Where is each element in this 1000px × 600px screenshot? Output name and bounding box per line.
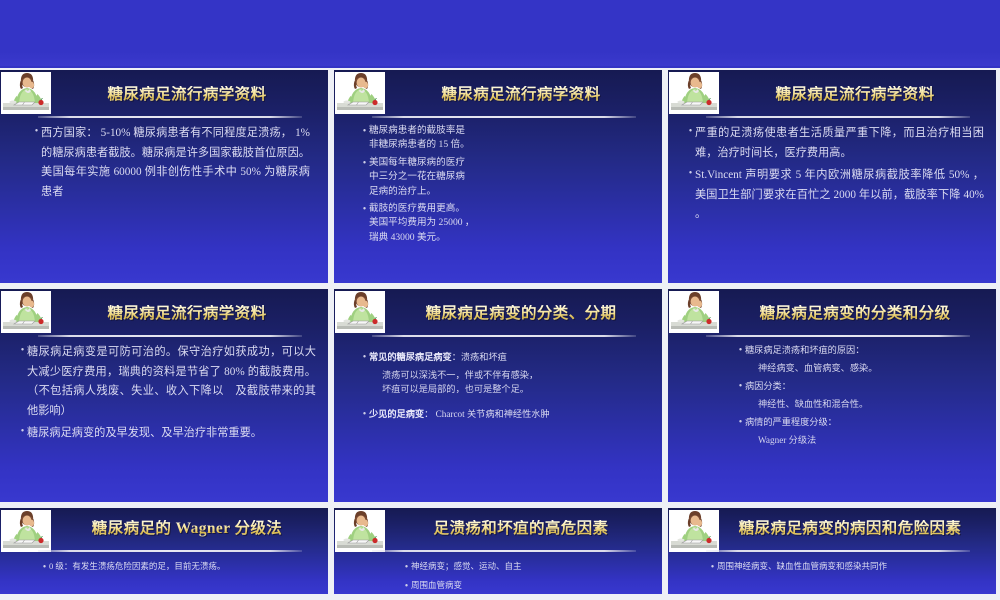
bullet-text: 周围血管病变 <box>411 579 654 592</box>
slide-title: 足溃疡和坏疽的高危因素 <box>386 520 656 537</box>
bullet-text: 0 级：有发生溃疡危险因素的足，目前无溃疡。 <box>49 560 314 573</box>
slide-body: • 0 级：有发生溃疡危险因素的足，目前无溃疡。 <box>10 560 320 590</box>
bullet-text: 糖尿病足溃疡和坏疽的原因： <box>745 343 988 358</box>
slide-thumbnail-2[interactable]: 糖尿病足流行病学资料 • 糖尿病患者的截肢率是 非糖尿病患者的 15 倍。 • … <box>334 70 662 283</box>
slide-thumbnail-1[interactable]: 糖尿病足流行病学资料 • 西方国家： 5-10% 糖尿病患者有不同程度足溃疡， … <box>0 70 328 283</box>
title-divider <box>38 335 302 337</box>
slide-body: • 严重的足溃疡使患者生活质量严重下降，而且治疗相当困难，治疗时间长，医疗费用高… <box>678 124 988 279</box>
title-divider <box>706 550 970 552</box>
bullet-item: • 严重的足溃疡使患者生活质量严重下降，而且治疗相当困难，治疗时间长，医疗费用高… <box>686 124 984 163</box>
bullet-dot-icon: • <box>360 202 369 218</box>
bullet-dot-icon: • <box>18 343 27 359</box>
bullet-dot-icon: • <box>402 579 411 594</box>
bullet-dot-icon: • <box>736 415 745 431</box>
bullet-text: 病因分类： <box>745 379 988 394</box>
sub-text: Wagner 分级法 <box>758 434 988 448</box>
slide-title: 糖尿病足病变的分类、分期 <box>386 305 656 322</box>
bullet-dot-icon: • <box>360 407 369 423</box>
slide-row-1: 糖尿病足流行病学资料 • 西方国家： 5-10% 糖尿病患者有不同程度足溃疡， … <box>0 70 1000 283</box>
bullet-item: • 截肢的医疗费用更高。 美国平均费用为 25000 ， 瑞典 43000 美元… <box>360 202 648 245</box>
title-divider <box>372 116 636 118</box>
bullet-text: 糖尿病足病变是可防可治的。保守治疗如获成功，可以大大减少医疗费用，瑞典的资料是节… <box>27 343 316 421</box>
bullet-text: 糖尿病患者的截肢率是 非糖尿病患者的 15 倍。 <box>369 124 648 153</box>
woman-at-desk-clipart-icon <box>669 291 719 333</box>
bullet-dot-icon: • <box>360 124 369 140</box>
title-divider <box>372 335 636 337</box>
top-banner <box>0 0 1000 68</box>
woman-at-desk-clipart-icon <box>335 72 385 114</box>
slide-thumbnail-8[interactable]: 足溃疡和坏疽的高危因素 • 神经病变；感觉、运动、自主 • 周围血管病变 <box>334 508 662 594</box>
slide-title: 糖尿病足病变的分类和分级 <box>720 305 990 322</box>
bullet-item: • 病因分类： <box>736 379 988 395</box>
bullet-text: St.Vincent 声明要求 5 年内欧洲糖尿病截肢率降低 50% ， 美国卫… <box>695 166 984 225</box>
bullet-dot-icon: • <box>686 166 695 182</box>
slide-grid: 糖尿病足流行病学资料 • 西方国家： 5-10% 糖尿病患者有不同程度足溃疡， … <box>0 70 1000 600</box>
bullet-dot-icon: • <box>736 379 745 395</box>
bullet-lead: 常见的糖尿病足病变 <box>369 352 452 362</box>
slide-body: • 糖尿病足病变是可防可治的。保守治疗如获成功，可以大大减少医疗费用，瑞典的资料… <box>10 343 320 498</box>
slide-title: 糖尿病足流行病学资料 <box>386 86 656 103</box>
bullet-dot-icon: • <box>686 124 695 140</box>
woman-at-desk-clipart-icon <box>669 72 719 114</box>
bullet-dot-icon: • <box>40 560 49 576</box>
bullet-tail: ：溃疡和坏疽 <box>452 352 507 362</box>
woman-at-desk-clipart-icon <box>1 510 51 552</box>
title-divider <box>372 550 636 552</box>
slide-body: • 糖尿病患者的截肢率是 非糖尿病患者的 15 倍。 • 美国每年糖尿病的医疗 … <box>344 124 654 279</box>
bullet-text: 严重的足溃疡使患者生活质量严重下降，而且治疗相当困难，治疗时间长，医疗费用高。 <box>695 124 984 163</box>
sub-text: 神经病变、血管病变、感染。 <box>758 362 988 376</box>
bullet-dot-icon: • <box>736 343 745 359</box>
slide-body: • 神经病变；感觉、运动、自主 • 周围血管病变 <box>344 560 654 590</box>
bullet-dot-icon: • <box>402 560 411 576</box>
bullet-text: 截肢的医疗费用更高。 美国平均费用为 25000 ， 瑞典 43000 美元。 <box>369 202 648 245</box>
slide-title: 糖尿病足流行病学资料 <box>52 305 322 322</box>
slide-title: 糖尿病足流行病学资料 <box>52 86 322 103</box>
slide-title: 糖尿病足流行病学资料 <box>720 86 990 103</box>
bullet-text: 少见的足病变： Charcot 关节病和神经性水肿 <box>369 407 648 422</box>
bullet-item: • 周围神经病变、缺血性血管病变和感染共同作 <box>708 560 982 576</box>
bullet-text: 糖尿病足病变的及早发现、及早治疗非常重要。 <box>27 424 316 444</box>
slide-thumbnail-6[interactable]: 糖尿病足病变的分类和分级 • 糖尿病足溃疡和坏疽的原因： 神经病变、血管病变、感… <box>668 289 996 502</box>
slide-body: • 常见的糖尿病足病变：溃疡和坏疽 溃疡可以深浅不一，伴或不伴有感染， 坏疽可以… <box>344 343 654 498</box>
woman-at-desk-clipart-icon <box>1 72 51 114</box>
slide-thumbnail-3[interactable]: 糖尿病足流行病学资料 • 严重的足溃疡使患者生活质量严重下降，而且治疗相当困难，… <box>668 70 996 283</box>
bullet-dot-icon: • <box>32 124 41 140</box>
sub-text: 溃疡可以深浅不一，伴或不伴有感染， 坏疽可以是局部的，也可是整个足。 <box>382 369 648 397</box>
title-divider <box>38 116 302 118</box>
slide-thumbnail-5[interactable]: 糖尿病足病变的分类、分期 • 常见的糖尿病足病变：溃疡和坏疽 溃疡可以深浅不一，… <box>334 289 662 502</box>
bullet-dot-icon: • <box>708 560 717 576</box>
woman-at-desk-clipart-icon <box>335 291 385 333</box>
bullet-item: • St.Vincent 声明要求 5 年内欧洲糖尿病截肢率降低 50% ， 美… <box>686 166 984 225</box>
bullet-dot-icon: • <box>360 156 369 172</box>
title-divider <box>38 550 302 552</box>
title-divider <box>706 116 970 118</box>
bullet-text: 常见的糖尿病足病变：溃疡和坏疽 <box>369 350 648 365</box>
slide-title: 糖尿病足病变的病因和危险因素 <box>710 520 990 537</box>
title-divider <box>706 335 970 337</box>
bullet-text: 病情的严重程度分级： <box>745 415 988 430</box>
slide-grid-stage: 糖尿病足流行病学资料 • 西方国家： 5-10% 糖尿病患者有不同程度足溃疡， … <box>0 0 1000 600</box>
bullet-item: • 病情的严重程度分级： <box>736 415 988 431</box>
bullet-item: • 周围血管病变 <box>402 579 654 594</box>
bullet-item: • 少见的足病变： Charcot 关节病和神经性水肿 <box>360 407 648 423</box>
slide-body: • 西方国家： 5-10% 糖尿病患者有不同程度足溃疡， 1% 的糖尿病患者截肢… <box>10 124 320 279</box>
slide-body: • 周围神经病变、缺血性血管病变和感染共同作 <box>678 560 988 590</box>
bullet-text: 周围神经病变、缺血性血管病变和感染共同作 <box>717 560 982 573</box>
bullet-item: • 0 级：有发生溃疡危险因素的足，目前无溃疡。 <box>40 560 314 576</box>
bullet-tail: ： Charcot 关节病和神经性水肿 <box>424 409 550 419</box>
bullet-item: • 美国每年糖尿病的医疗 中三分之一花在糖尿病 足病的治疗上。 <box>360 156 648 199</box>
bullet-item: • 西方国家： 5-10% 糖尿病患者有不同程度足溃疡， 1% 的糖尿病患者截肢… <box>32 124 310 202</box>
slide-row-3: 糖尿病足的 Wagner 分级法 • 0 级：有发生溃疡危险因素的足，目前无溃疡… <box>0 508 1000 594</box>
bullet-lead: 少见的足病变 <box>369 409 424 419</box>
slide-title: 糖尿病足的 Wagner 分级法 <box>52 520 322 537</box>
bullet-item: • 常见的糖尿病足病变：溃疡和坏疽 <box>360 350 648 366</box>
woman-at-desk-clipart-icon <box>335 510 385 552</box>
bullet-text: 美国每年糖尿病的医疗 中三分之一花在糖尿病 足病的治疗上。 <box>369 156 648 199</box>
slide-thumbnail-9[interactable]: 糖尿病足病变的病因和危险因素 • 周围神经病变、缺血性血管病变和感染共同作 <box>668 508 996 594</box>
bullet-item: • 神经病变；感觉、运动、自主 <box>402 560 654 576</box>
slide-thumbnail-7[interactable]: 糖尿病足的 Wagner 分级法 • 0 级：有发生溃疡危险因素的足，目前无溃疡… <box>0 508 328 594</box>
bullet-item: • 糖尿病足病变的及早发现、及早治疗非常重要。 <box>18 424 316 444</box>
bullet-item: • 糖尿病患者的截肢率是 非糖尿病患者的 15 倍。 <box>360 124 648 153</box>
slide-body: • 糖尿病足溃疡和坏疽的原因： 神经病变、血管病变、感染。 • 病因分类： 神经… <box>678 343 988 498</box>
bullet-item: • 糖尿病足病变是可防可治的。保守治疗如获成功，可以大大减少医疗费用，瑞典的资料… <box>18 343 316 421</box>
bullet-dot-icon: • <box>18 424 27 440</box>
sub-text: 神经性、缺血性和混合性。 <box>758 398 988 412</box>
bullet-dot-icon: • <box>360 350 369 366</box>
bullet-text: 西方国家： 5-10% 糖尿病患者有不同程度足溃疡， 1% 的糖尿病患者截肢。糖… <box>41 124 310 202</box>
slide-row-2: 糖尿病足流行病学资料 • 糖尿病足病变是可防可治的。保守治疗如获成功，可以大大减… <box>0 289 1000 502</box>
bullet-text: 神经病变；感觉、运动、自主 <box>411 560 654 573</box>
slide-thumbnail-4[interactable]: 糖尿病足流行病学资料 • 糖尿病足病变是可防可治的。保守治疗如获成功，可以大大减… <box>0 289 328 502</box>
woman-at-desk-clipart-icon <box>1 291 51 333</box>
top-banner-fill <box>0 0 1000 66</box>
bullet-item: • 糖尿病足溃疡和坏疽的原因： <box>736 343 988 359</box>
